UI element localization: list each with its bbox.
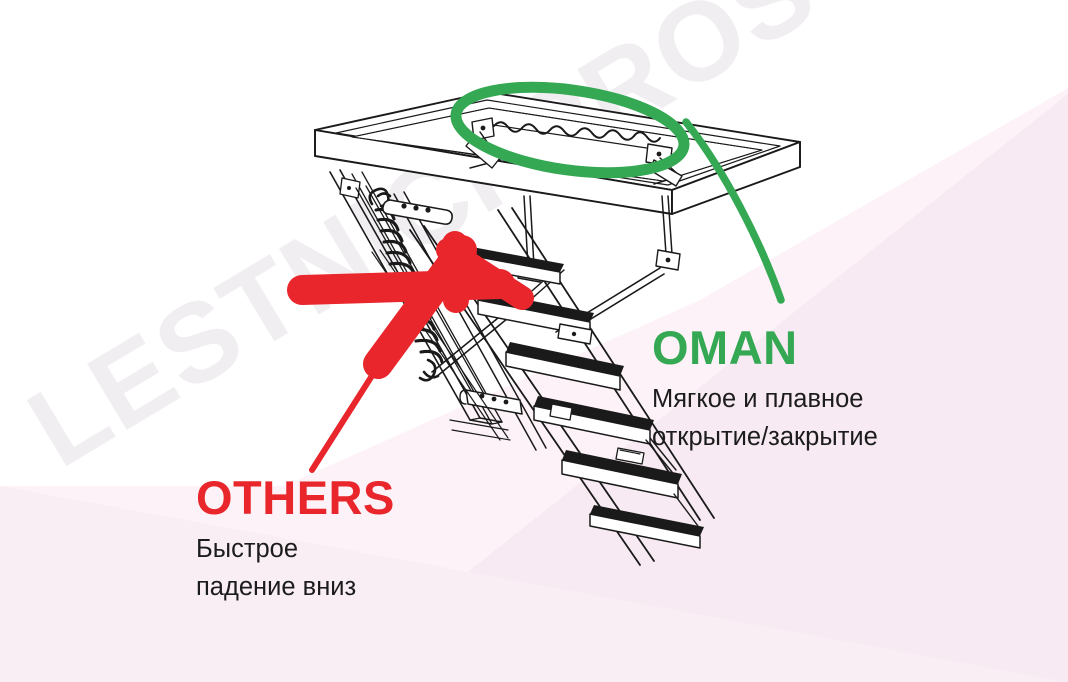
oman-callout: OMAN Мягкое и плавное открытие/закрытие xyxy=(652,324,1012,456)
infographic-canvas: LESTNICI-PROSTO.RU xyxy=(0,0,1068,682)
green-ellipse-annotation xyxy=(451,74,781,300)
red-leader-line xyxy=(312,360,382,470)
others-subtitle-line-2: падение вниз xyxy=(196,569,526,607)
red-arrow-annotation xyxy=(302,244,522,470)
others-subtitle-line-1: Быстрое xyxy=(196,531,526,569)
others-title: OTHERS xyxy=(196,474,526,521)
oman-title: OMAN xyxy=(652,324,1012,371)
others-callout: OTHERS Быстрое падение вниз xyxy=(196,474,526,606)
green-leader-line xyxy=(686,122,781,300)
oman-subtitle-line-2: открытие/закрытие xyxy=(652,419,1012,457)
oman-subtitle-line-1: Мягкое и плавное xyxy=(652,381,1012,419)
